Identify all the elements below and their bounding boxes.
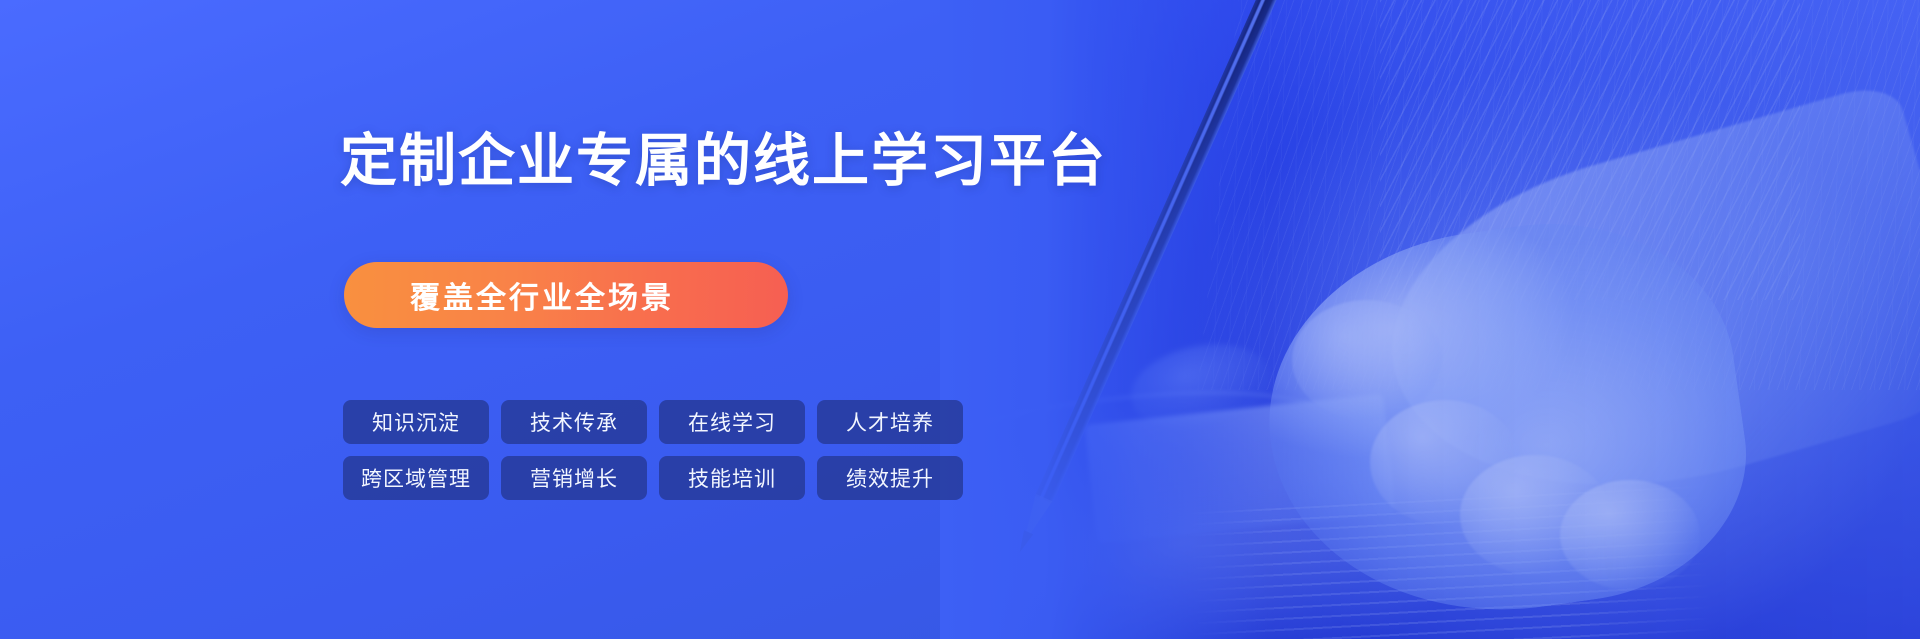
feature-tag[interactable]: 人才培养 (817, 400, 963, 444)
feature-tag[interactable]: 技能培训 (659, 456, 805, 500)
feature-tag[interactable]: 知识沉淀 (343, 400, 489, 444)
feature-tag[interactable]: 绩效提升 (817, 456, 963, 500)
page-title: 定制企业专属的线上学习平台 (340, 128, 1107, 195)
hero-content: 定制企业专属的线上学习平台 覆盖全行业全场景 知识沉淀 技术传承 在线学习 人才… (0, 0, 1920, 639)
feature-tag[interactable]: 技术传承 (501, 400, 647, 444)
coverage-badge[interactable]: 覆盖全行业全场景 (344, 262, 788, 328)
hero-banner: 定制企业专属的线上学习平台 覆盖全行业全场景 知识沉淀 技术传承 在线学习 人才… (0, 0, 1920, 639)
feature-tag[interactable]: 跨区域管理 (343, 456, 489, 500)
feature-tag[interactable]: 营销增长 (501, 456, 647, 500)
coverage-badge-label: 覆盖全行业全场景 (410, 273, 674, 317)
feature-tag-grid: 知识沉淀 技术传承 在线学习 人才培养 跨区域管理 营销增长 技能培训 绩效提升 (343, 400, 963, 500)
feature-tag[interactable]: 在线学习 (659, 400, 805, 444)
